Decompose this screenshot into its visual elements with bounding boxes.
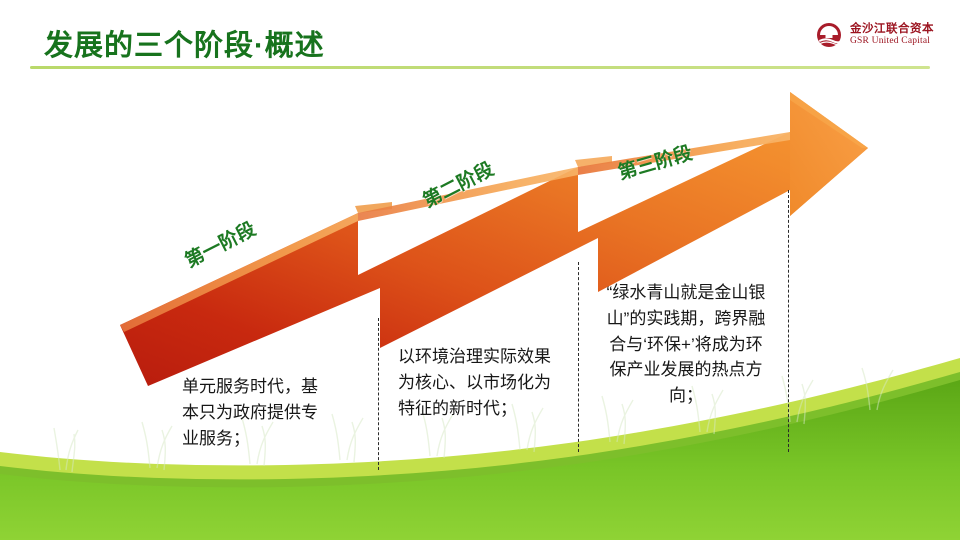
- stage-divider-3: [788, 190, 789, 452]
- stage-description-3: “绿水青山就是金山银山”的实践期，跨界融合与‘环保+’将成为环保产业发展的热点方…: [602, 280, 770, 409]
- stage-divider-2: [578, 262, 579, 452]
- stepped-arrow-diagram: [0, 0, 960, 540]
- stage-description-1: 单元服务时代，基本只为政府提供专业服务；: [182, 374, 334, 451]
- slide-canvas: 发展的三个阶段·概述 金沙江联合资本 GSR United Capital: [0, 0, 960, 540]
- stage-divider-1: [378, 318, 379, 470]
- stage-description-2: 以环境治理实际效果为核心、以市场化为特征的新时代；: [398, 344, 552, 421]
